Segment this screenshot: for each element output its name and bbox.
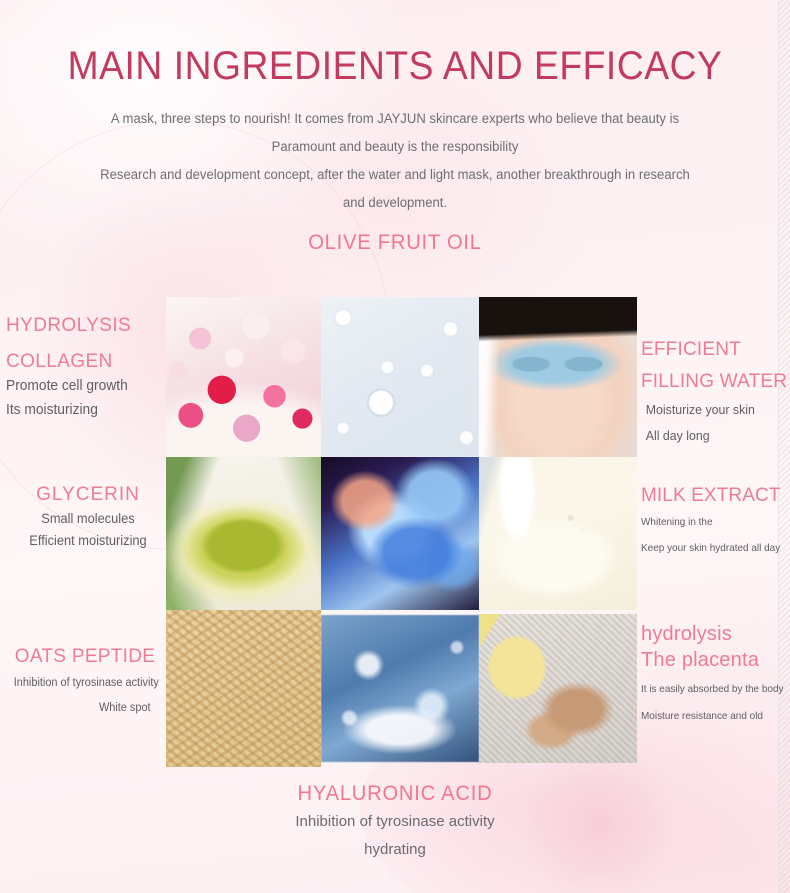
ingredient-photo-grid [166, 297, 637, 767]
hyaluronic-acid-title: HYALURONIC ACID [16, 782, 774, 806]
label-efficient-filling-water: EFFICIENT FILLING WATER Moisturize your … [641, 338, 790, 444]
grid-cell-model-face [479, 297, 637, 457]
efficient-sub-line1: Moisturize your skin [641, 401, 784, 419]
glycerin-sub-line2: Efficient moisturizing [10, 532, 166, 550]
label-oats-peptide: OATS PEPTIDE Inhibition of tyrosinase ac… [4, 645, 166, 718]
label-glycerin: GLYCERIN Small molecules Efficient moist… [6, 483, 170, 551]
grid-cell-laboratory [321, 457, 479, 610]
model-face-photo [479, 297, 637, 457]
efficient-title-line2: FILLING WATER [641, 370, 790, 393]
intro-line-2: Paramount and beauty is the responsibili… [12, 133, 778, 161]
placenta-title-line2: The placenta [641, 648, 790, 672]
infographic-page: MAIN INGREDIENTS AND EFFICACY A mask, th… [0, 0, 790, 893]
placenta-sub-line2: Moisture resistance and old [641, 707, 784, 727]
efficient-title-line1: EFFICIENT [641, 338, 790, 361]
hydrolysis-sub-line1: Promote cell growth [6, 377, 158, 397]
efficient-sub-line2: All day long [641, 427, 784, 445]
hydrolysis-title-line2: COLLAGEN [6, 350, 166, 373]
grid-cell-milk-pour [479, 457, 637, 610]
placenta-title-line1: hydrolysis [641, 622, 790, 646]
hyaluronic-acid-sub-line1: Inhibition of tyrosinase activity [0, 811, 790, 834]
glycerin-title: GLYCERIN [6, 483, 170, 506]
intro-line-1: A mask, three steps to nourish! It comes… [12, 105, 778, 133]
oats-peptide-sub-line1: Inhibition of tyrosinase activity [8, 674, 162, 693]
oats-peptide-title: OATS PEPTIDE [4, 645, 166, 668]
label-hydrolysis-collagen: HYDROLYSIS COLLAGEN Promote cell growth … [6, 314, 166, 420]
laboratory-photo [321, 457, 479, 610]
glycerin-sub-line1: Small molecules [10, 510, 166, 528]
grid-cell-water-molecule [321, 297, 479, 457]
intro-line-4: and development. [12, 189, 778, 217]
header: MAIN INGREDIENTS AND EFFICACY A mask, th… [0, 0, 790, 255]
oats-peptide-sub-line2: White spot [8, 699, 162, 718]
grid-cell-water-droplets [321, 610, 479, 767]
rose-petals-photo [166, 297, 321, 457]
milk-pour-photo [479, 457, 637, 610]
hydrolysis-title-line1: HYDROLYSIS [6, 314, 166, 337]
intro-line-3: Research and development concept, after … [12, 161, 778, 189]
oats-grain-photo [166, 610, 321, 767]
olive-fruit-oil-heading: OLIVE FRUIT OIL [16, 231, 774, 255]
milk-extract-sub-line1: Whitening in the [641, 513, 784, 532]
milk-extract-sub-line2: Keep your skin hydrated all day [641, 539, 784, 558]
milk-extract-title: MILK EXTRACT [641, 484, 790, 507]
label-placenta: hydrolysis The placenta It is easily abs… [641, 622, 790, 727]
intro-paragraph: A mask, three steps to nourish! It comes… [0, 105, 790, 217]
footer-caption: HYALURONIC ACID Inhibition of tyrosinase… [0, 782, 790, 861]
hydrolysis-sub-line2: Its moisturizing [6, 401, 158, 421]
grid-cell-rose-petals [166, 297, 321, 457]
grid-cell-placenta-powder [479, 610, 637, 767]
label-milk-extract: MILK EXTRACT Whitening in the Keep your … [641, 484, 790, 558]
grid-cell-oats-grain [166, 610, 321, 767]
grid-cell-olive-oil [166, 457, 321, 610]
hyaluronic-acid-sub-line2: hydrating [0, 839, 790, 862]
placenta-powder-photo [479, 614, 637, 763]
page-title: MAIN INGREDIENTS AND EFFICACY [28, 44, 763, 89]
placenta-sub-line1: It is easily absorbed by the body [641, 680, 784, 700]
water-droplets-photo [321, 615, 479, 762]
water-molecule-photo [321, 297, 479, 457]
olive-oil-photo [166, 457, 321, 610]
